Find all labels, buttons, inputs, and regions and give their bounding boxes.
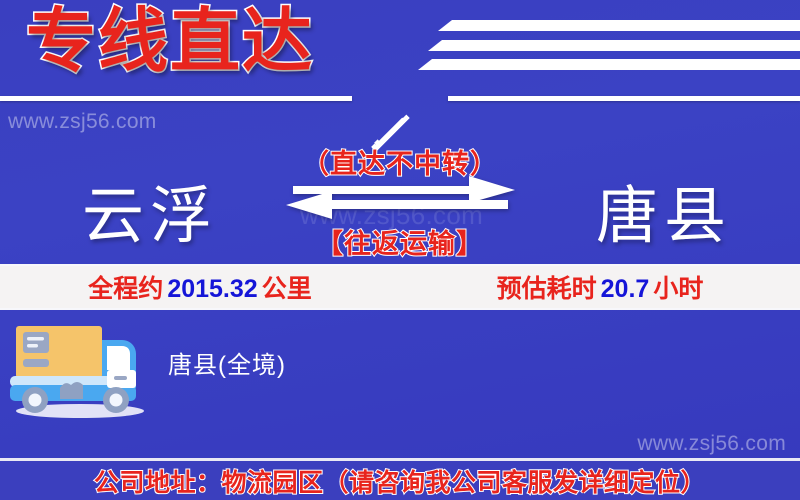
route-info-band: 全程约2015.32公里 预估耗时20.7小时 (0, 264, 800, 310)
duration-unit-label: 小时 (653, 275, 703, 303)
distance-info: 全程约2015.32公里 (0, 269, 400, 305)
distance-value: 2015.32 (163, 275, 261, 303)
footer-bar: 公司地址：物流园区（请咨询我公司客服发详细定位） (0, 461, 800, 500)
duration-prefix-label: 预估耗时 (497, 275, 597, 303)
delivery-truck-icon (6, 318, 152, 418)
divider (0, 92, 800, 122)
speed-stripe-icon (428, 40, 800, 51)
divider-line-left (0, 96, 352, 101)
speed-stripe-icon (418, 59, 800, 70)
logistics-route-banner: 专线直达 www.zsj56.com www.zsj56.com www.zsj… (0, 0, 800, 500)
company-address: 公司地址：物流园区（请咨询我公司客服发详细定位） (94, 463, 706, 499)
page-title: 专线直达 (26, 4, 314, 80)
double-arrow-icon (283, 176, 518, 220)
watermark-bottom: www.zsj56.com (637, 432, 786, 456)
divider-line-right (448, 96, 800, 101)
distance-unit-label: 公里 (262, 275, 312, 303)
coverage-area-label: 唐县(全境) (168, 345, 286, 380)
duration-info: 预估耗时20.7小时 (400, 269, 800, 305)
distance-prefix-label: 全程约 (88, 275, 163, 303)
duration-value: 20.7 (597, 275, 654, 303)
chevron-down-icon (352, 94, 406, 148)
speed-stripe-icon (438, 20, 800, 31)
return-service-tag: 【往返运输】 (0, 222, 800, 261)
